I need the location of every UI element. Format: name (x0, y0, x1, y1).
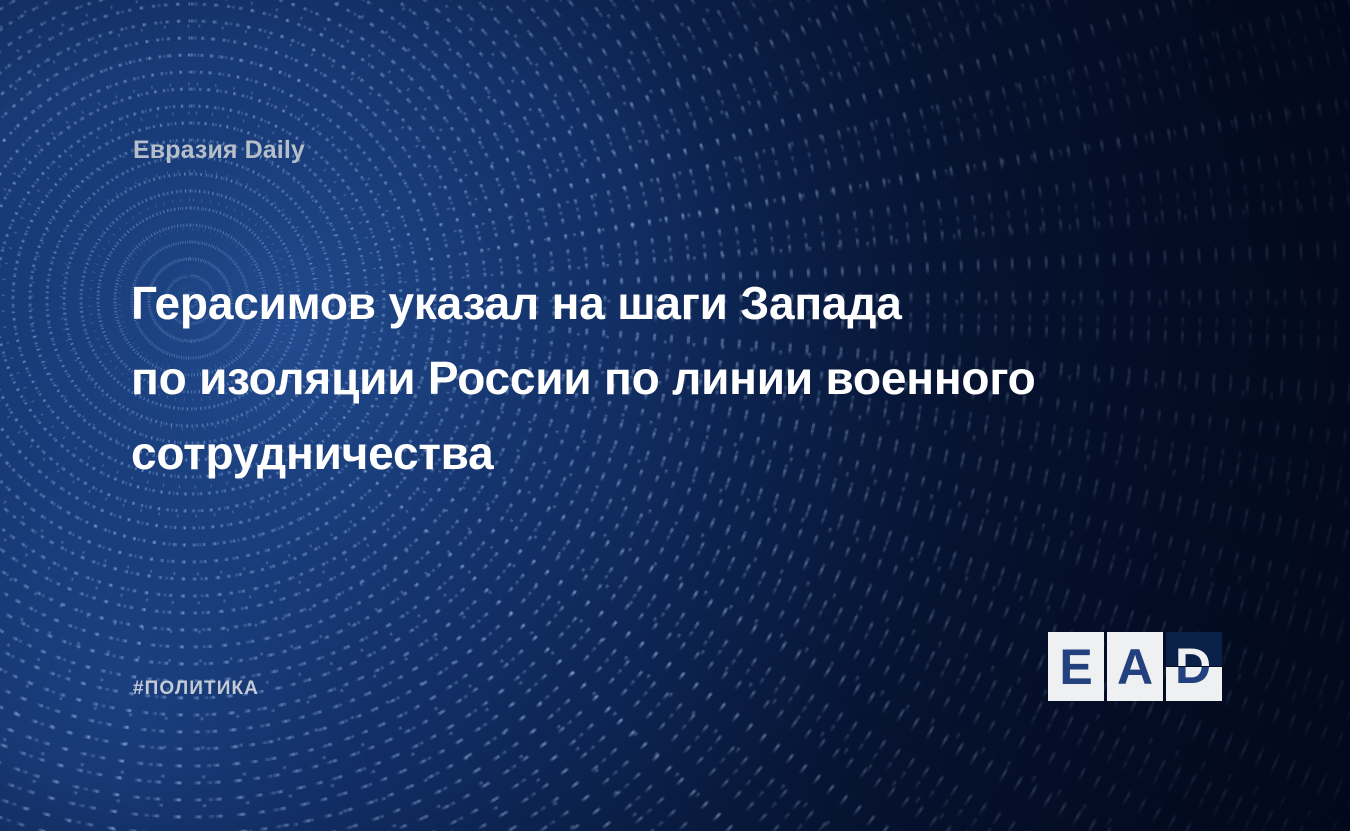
card-content: Евразия Daily Герасимов указал на шаги З… (0, 0, 1350, 831)
logo-letter-a: A (1107, 632, 1163, 701)
headline-line-3: сотрудничества (131, 416, 1221, 491)
brand-name: Евразия Daily (133, 136, 305, 165)
headline-line-2: по изоляции России по линии военного (131, 341, 1221, 416)
logo-letter-d-lower: D (1175, 667, 1211, 701)
logo-tile-e: E (1048, 632, 1104, 701)
page-title: Герасимов указал на шаги Запада по изоля… (131, 266, 1221, 491)
logo-letter-d-top-half: D (1166, 632, 1222, 666)
headline-line-1: Герасимов указал на шаги Запада (131, 266, 1221, 341)
logo-letter-d-bottom-half: D (1166, 667, 1222, 701)
logo-tile-a: A (1107, 632, 1163, 701)
news-card: Евразия Daily Герасимов указал на шаги З… (0, 0, 1350, 831)
eadaily-logo[interactable]: E A D D (1048, 632, 1223, 701)
logo-letter-d-upper: D (1175, 632, 1211, 666)
logo-tile-d: D D (1166, 632, 1222, 701)
logo-letter-e: E (1048, 632, 1104, 701)
category-tag[interactable]: #ПОЛИТИКА (133, 678, 259, 700)
